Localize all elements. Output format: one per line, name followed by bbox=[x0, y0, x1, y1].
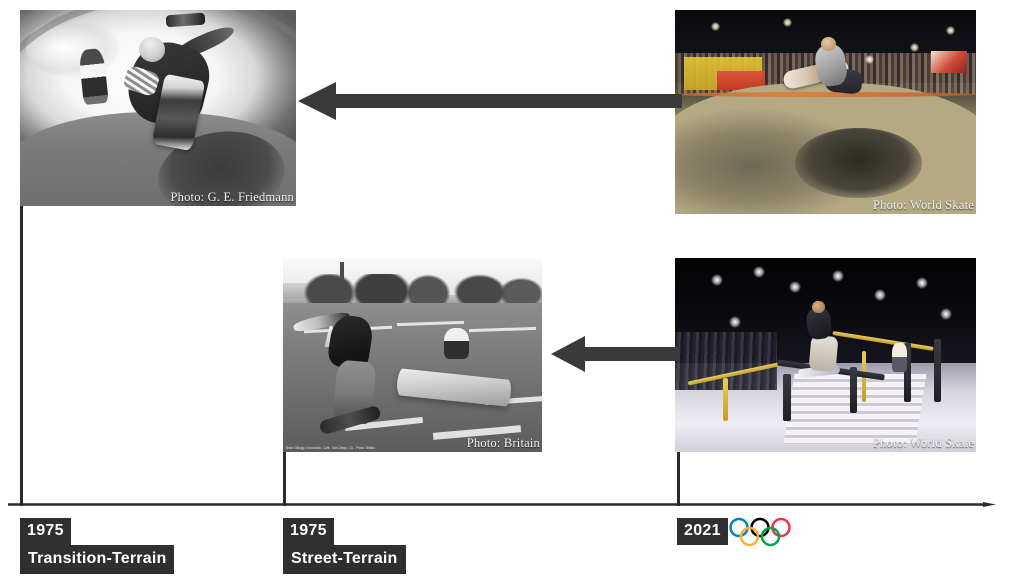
olympic-ring-yellow bbox=[741, 528, 758, 545]
marker-terrain-label: Street-Terrain bbox=[283, 545, 406, 574]
dark-rail-post bbox=[783, 374, 790, 421]
street-contest-scene bbox=[675, 258, 976, 452]
photo-credit: Photo: G. E. Friedmann bbox=[171, 190, 295, 205]
transition-terrain-modern-photo: Photo: World Skate bbox=[675, 10, 976, 214]
transition-evolution-arrow bbox=[296, 80, 682, 122]
marker-year: 1975 bbox=[20, 518, 71, 545]
marker-terrain-label: Transition-Terrain bbox=[20, 545, 174, 574]
marker-year-row: 2021 bbox=[677, 518, 728, 545]
photo-micro-caption: Brian Gillogly, Escondido, Calif., San D… bbox=[286, 446, 375, 450]
timeline-axis bbox=[8, 502, 996, 507]
arena-light-icon bbox=[753, 266, 765, 278]
skater-head bbox=[821, 37, 836, 51]
street-terrain-modern-photo: Photo: World Skate bbox=[675, 258, 976, 452]
photo-credit: Photo: World Skate bbox=[873, 198, 974, 213]
timeline-diagram: Photo: G. E. Friedmann Photo: World Skat… bbox=[0, 0, 1024, 576]
pool-scene bbox=[20, 10, 296, 206]
marker-terrain-row: Transition-Terrain bbox=[20, 545, 174, 574]
tree-line bbox=[283, 274, 542, 305]
stadium-light-icon bbox=[910, 43, 919, 52]
bowl-scene bbox=[675, 10, 976, 214]
connector-transition-1975 bbox=[20, 206, 23, 506]
gold-rail-post bbox=[723, 378, 728, 421]
connector-2021 bbox=[677, 452, 680, 506]
arena-light-icon bbox=[874, 289, 886, 301]
street-evolution-arrow bbox=[549, 334, 679, 374]
dark-rail-post bbox=[850, 367, 857, 414]
marker-year-row: 1975 bbox=[283, 518, 406, 545]
olympic-rings-icon bbox=[727, 517, 793, 547]
marker-year-row: 1975 bbox=[20, 518, 174, 545]
dark-rail-post bbox=[934, 339, 941, 401]
olympic-ring-red bbox=[773, 519, 790, 536]
olympic-ring-blue bbox=[731, 519, 748, 536]
transition-terrain-historic-photo: Photo: G. E. Friedmann bbox=[20, 10, 296, 206]
skater-legs bbox=[809, 334, 839, 371]
photo-credit: Photo: Britain bbox=[467, 436, 540, 451]
bowl-shadow bbox=[795, 128, 921, 197]
timeline-marker-transition: 1975 Transition-Terrain bbox=[20, 518, 174, 574]
connector-street-1975 bbox=[283, 452, 286, 506]
arena-light-icon bbox=[711, 274, 723, 286]
marker-year: 2021 bbox=[677, 518, 728, 545]
timeline-marker-street: 1975 Street-Terrain bbox=[283, 518, 406, 574]
timeline-marker-olympics: 2021 bbox=[677, 518, 728, 545]
stadium-light-icon bbox=[865, 55, 874, 64]
photo-credit: Photo: World Skate bbox=[873, 436, 974, 451]
marker-year: 1975 bbox=[283, 518, 334, 545]
street-terrain-historic-photo: Brian Gillogly, Escondido, Calif., San D… bbox=[283, 258, 542, 452]
light-pole bbox=[340, 262, 344, 301]
marker-terrain-row: Street-Terrain bbox=[283, 545, 406, 574]
olympic-ring-black bbox=[752, 519, 769, 536]
course-marshal bbox=[892, 343, 907, 372]
jumbotron-screen bbox=[931, 51, 967, 73]
arena-light-icon bbox=[832, 270, 844, 282]
olympic-ring-green bbox=[762, 528, 779, 545]
parking-lot-scene bbox=[283, 258, 542, 452]
bowl-coping bbox=[675, 92, 976, 97]
seated-bystander bbox=[444, 328, 470, 359]
